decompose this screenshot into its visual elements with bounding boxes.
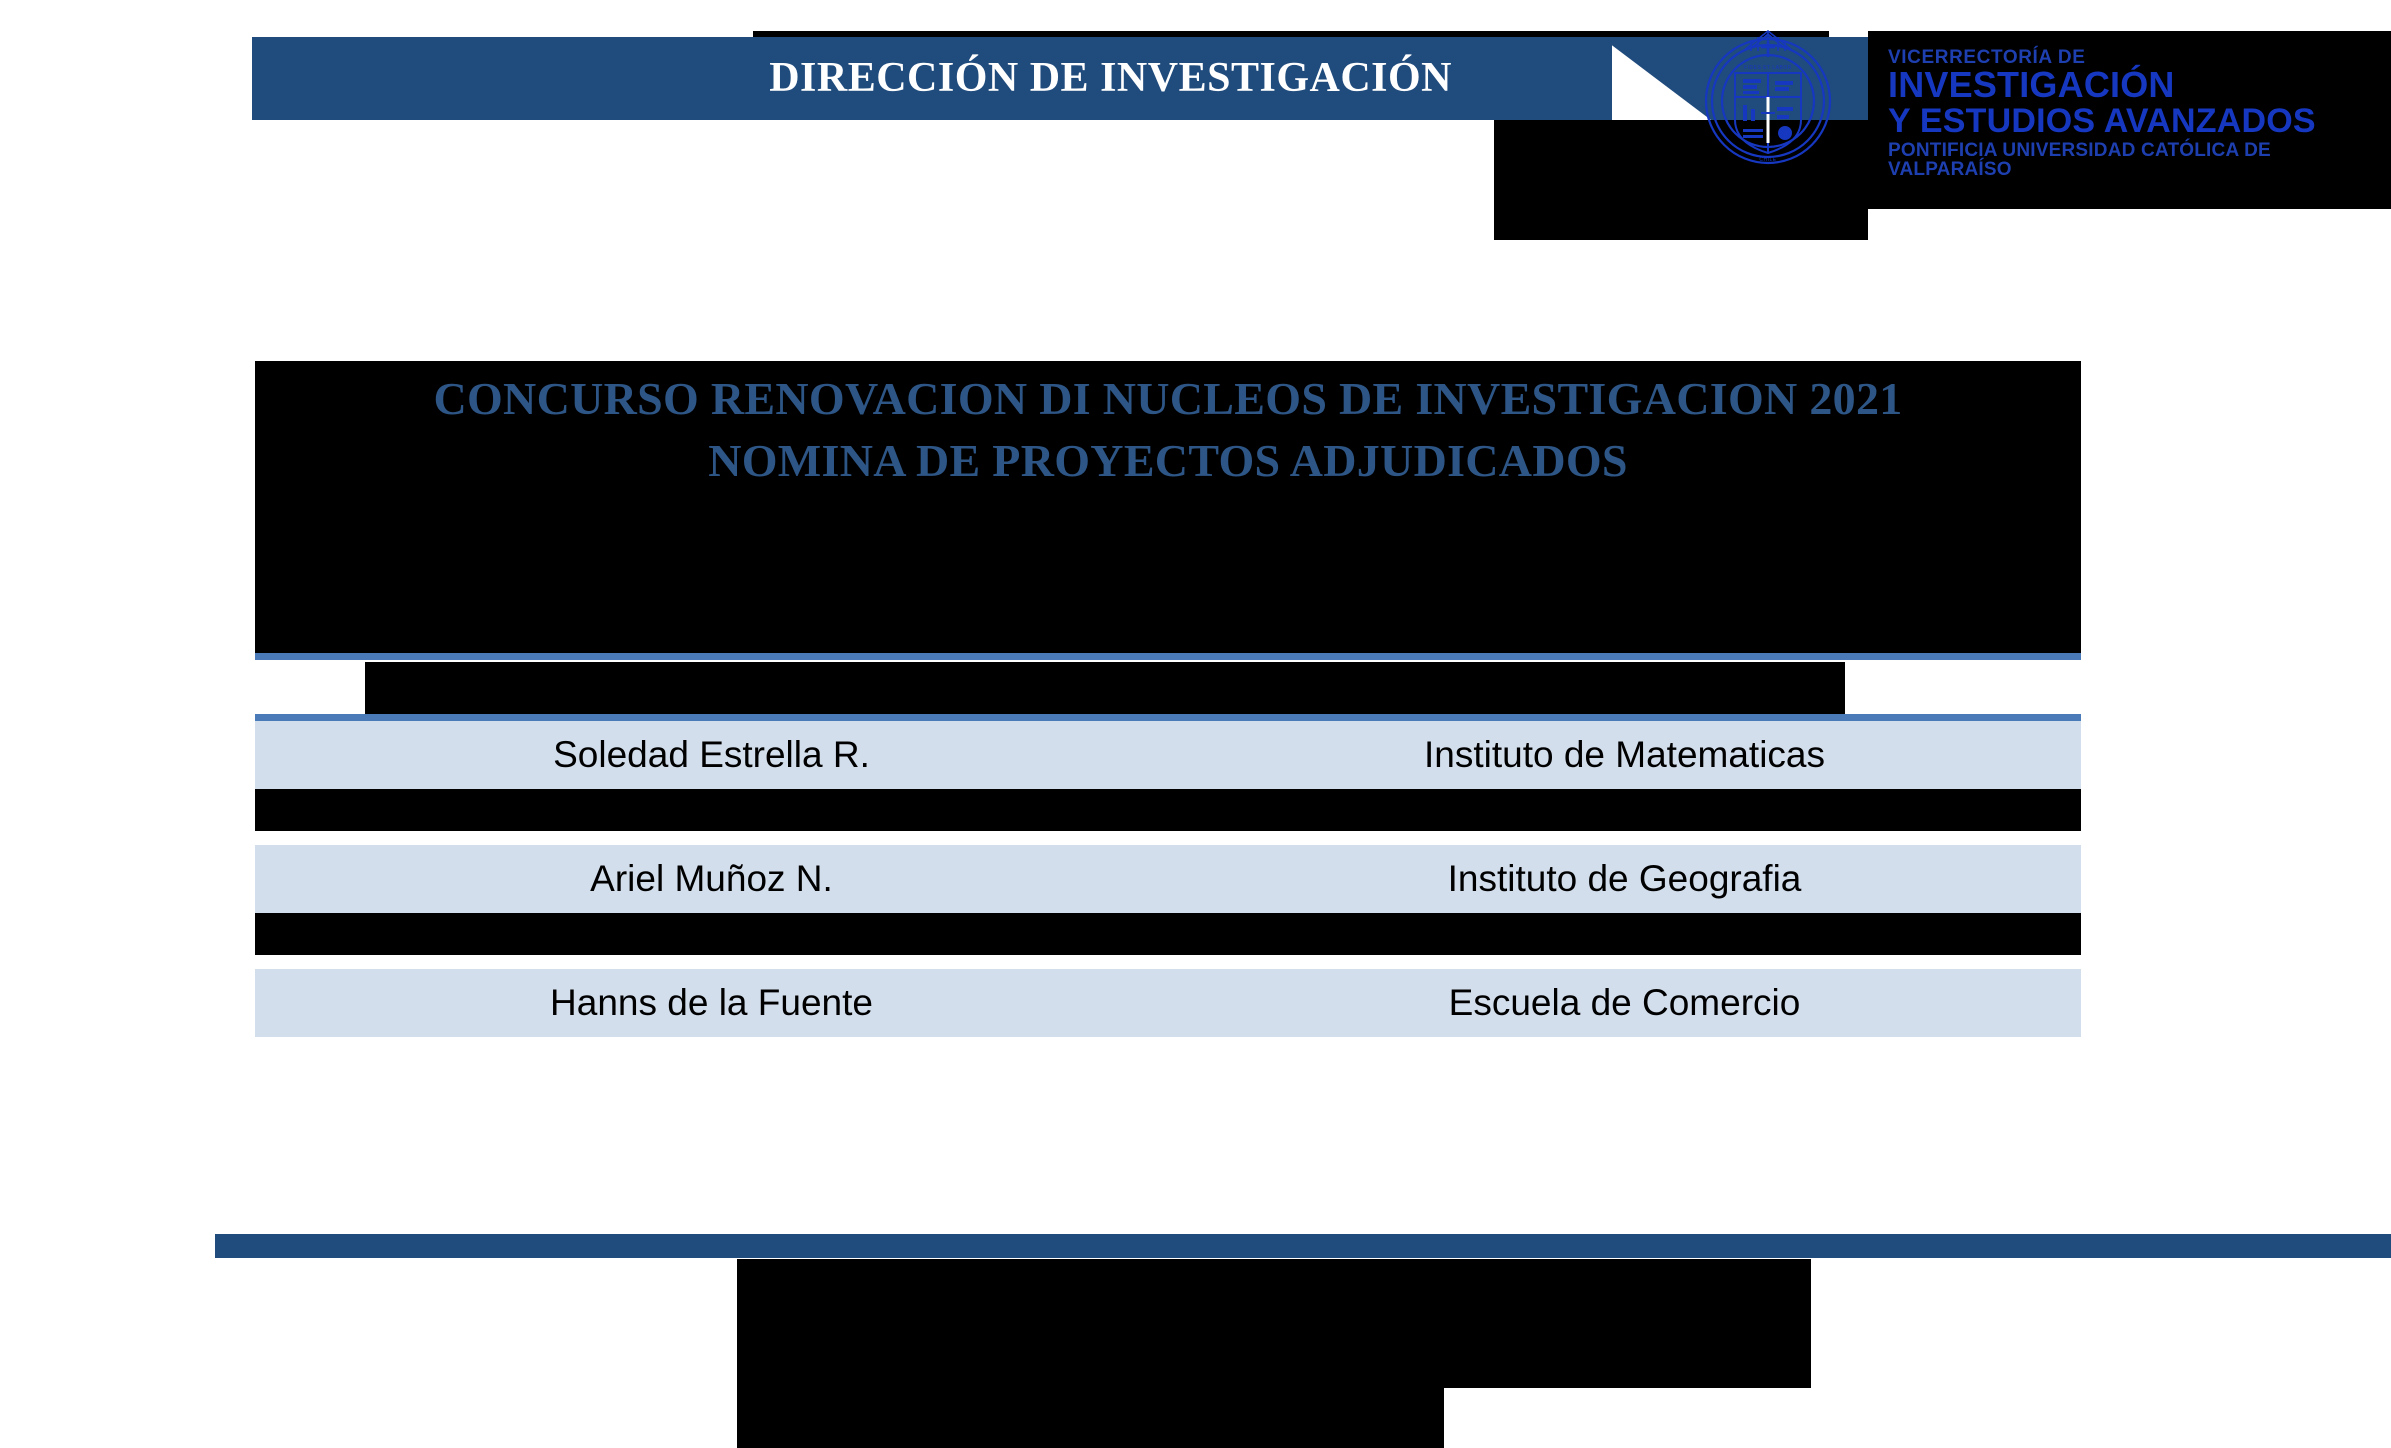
table-row: Hanns de la Fuente Escuela de Comercio bbox=[255, 969, 2081, 1037]
slide-canvas: DIRECCIÓN DE INVESTIGACIÓN bbox=[0, 0, 2391, 1428]
table-row: Ariel Muñoz N. Instituto de Geografia bbox=[255, 845, 2081, 913]
header-title: DIRECCIÓN DE INVESTIGACIÓN bbox=[252, 37, 1452, 120]
page-title: CONCURSO RENOVACION DI NUCLEOS DE INVEST… bbox=[255, 368, 2081, 492]
table-cell-name: Hanns de la Fuente bbox=[255, 982, 1168, 1024]
page-title-line-2: NOMINA DE PROYECTOS ADJUDICADOS bbox=[255, 430, 2081, 492]
svg-text:CHILE: CHILE bbox=[1759, 157, 1776, 163]
table-cell-name: Ariel Muñoz N. bbox=[255, 858, 1168, 900]
page-title-line-1: CONCURSO RENOVACION DI NUCLEOS DE INVEST… bbox=[433, 373, 1902, 424]
logo-line-estudios-avanzados: Y ESTUDIOS AVANZADOS bbox=[1888, 104, 2368, 139]
logo-wordmark: VICERRECTORÍA DE INVESTIGACIÓN Y ESTUDIO… bbox=[1888, 48, 2368, 180]
logo-line-universidad: PONTIFICIA UNIVERSIDAD CATÓLICA DE VALPA… bbox=[1888, 141, 2368, 180]
title-bottom-rule bbox=[255, 653, 2081, 660]
redaction-block-footer-upper bbox=[737, 1259, 1811, 1388]
logo-line-investigacion: INVESTIGACIÓN bbox=[1888, 67, 2368, 104]
footer-band bbox=[215, 1234, 2391, 1258]
awarded-projects-table: Soledad Estrella R. Instituto de Matemat… bbox=[255, 721, 2081, 1037]
table-row: Soledad Estrella R. Instituto de Matemat… bbox=[255, 721, 2081, 789]
redaction-block-row-gap-1 bbox=[255, 789, 2081, 831]
svg-text:FIDES ET LABOR: FIDES ET LABOR bbox=[1744, 65, 1792, 71]
pucv-seal-icon: FIDES ET LABOR CHILE bbox=[1673, 25, 1863, 165]
table-cell-unit: Instituto de Geografia bbox=[1168, 858, 2081, 900]
redaction-block-row-gap-2 bbox=[255, 913, 2081, 955]
table-cell-unit: Instituto de Matematicas bbox=[1168, 734, 2081, 776]
table-cell-unit: Escuela de Comercio bbox=[1168, 982, 2081, 1024]
redaction-block-subtitle bbox=[365, 662, 1845, 717]
table-top-rule bbox=[255, 714, 2081, 721]
table-cell-name: Soledad Estrella R. bbox=[255, 734, 1168, 776]
